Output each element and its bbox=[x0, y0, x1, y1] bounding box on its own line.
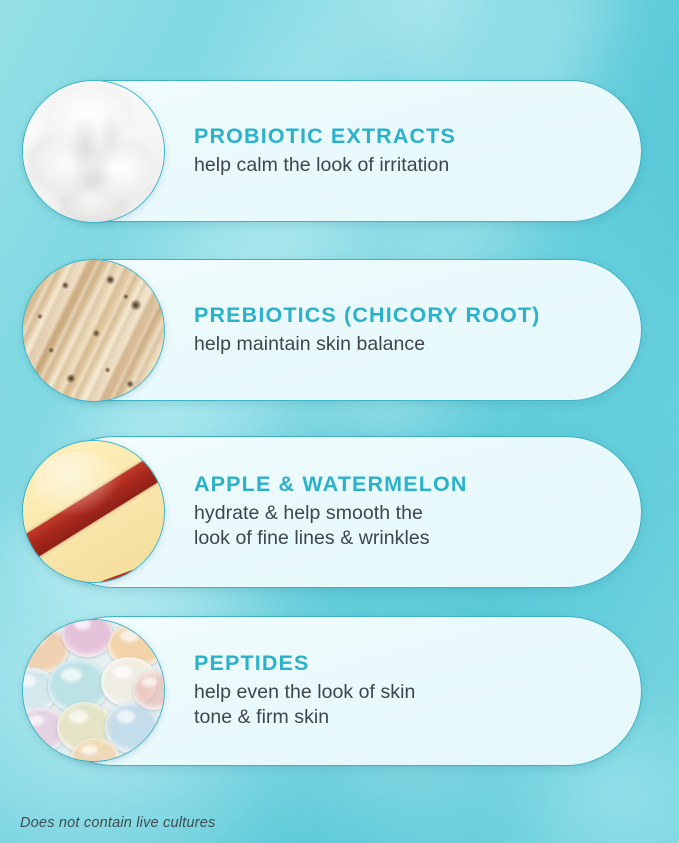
ingredient-description-line: look of fine lines & wrinkles bbox=[194, 526, 601, 551]
ingredient-image-chicory-root bbox=[22, 259, 165, 402]
ingredient-title: PROBIOTIC EXTRACTS bbox=[194, 124, 601, 149]
ingredient-title: PREBIOTICS (CHICORY ROOT) bbox=[194, 303, 601, 328]
ingredient-image-apple-slices bbox=[22, 440, 165, 583]
ingredient-image-probiotic-cream bbox=[22, 80, 165, 223]
ingredient-description-line: hydrate & help smooth the bbox=[194, 501, 601, 526]
apple-slice-art bbox=[23, 441, 164, 582]
ingredient-card-text: APPLE & WATERMELON hydrate & help smooth… bbox=[194, 437, 601, 587]
ingredient-title: APPLE & WATERMELON bbox=[194, 472, 601, 497]
gel-bead bbox=[62, 619, 113, 657]
cream-swatch-art bbox=[23, 81, 164, 222]
ingredient-card-text: PREBIOTICS (CHICORY ROOT) help maintain … bbox=[194, 260, 601, 400]
apple-highlight bbox=[34, 452, 121, 517]
ingredient-description: help maintain skin balance bbox=[194, 332, 601, 357]
ingredient-description-line: tone & firm skin bbox=[194, 705, 601, 730]
ingredient-benefits-infographic: PROBIOTIC EXTRACTS help calm the look of… bbox=[0, 0, 679, 843]
ingredient-title: PEPTIDES bbox=[194, 651, 601, 676]
ingredient-description-line: help even the look of skin bbox=[194, 680, 601, 705]
ingredient-description: help calm the look of irritation bbox=[194, 153, 601, 178]
chicory-root-art bbox=[23, 260, 164, 401]
ingredient-description: hydrate & help smooth the look of fine l… bbox=[194, 501, 601, 552]
ingredient-card-text: PROBIOTIC EXTRACTS help calm the look of… bbox=[194, 81, 601, 221]
footnote-text: Does not contain live cultures bbox=[20, 815, 215, 831]
ingredient-card-text: PEPTIDES help even the look of skin tone… bbox=[194, 617, 601, 765]
ingredient-description: help even the look of skin tone & firm s… bbox=[194, 680, 601, 731]
peptide-beads-art bbox=[23, 620, 164, 761]
ingredient-image-peptide-beads bbox=[22, 619, 165, 762]
